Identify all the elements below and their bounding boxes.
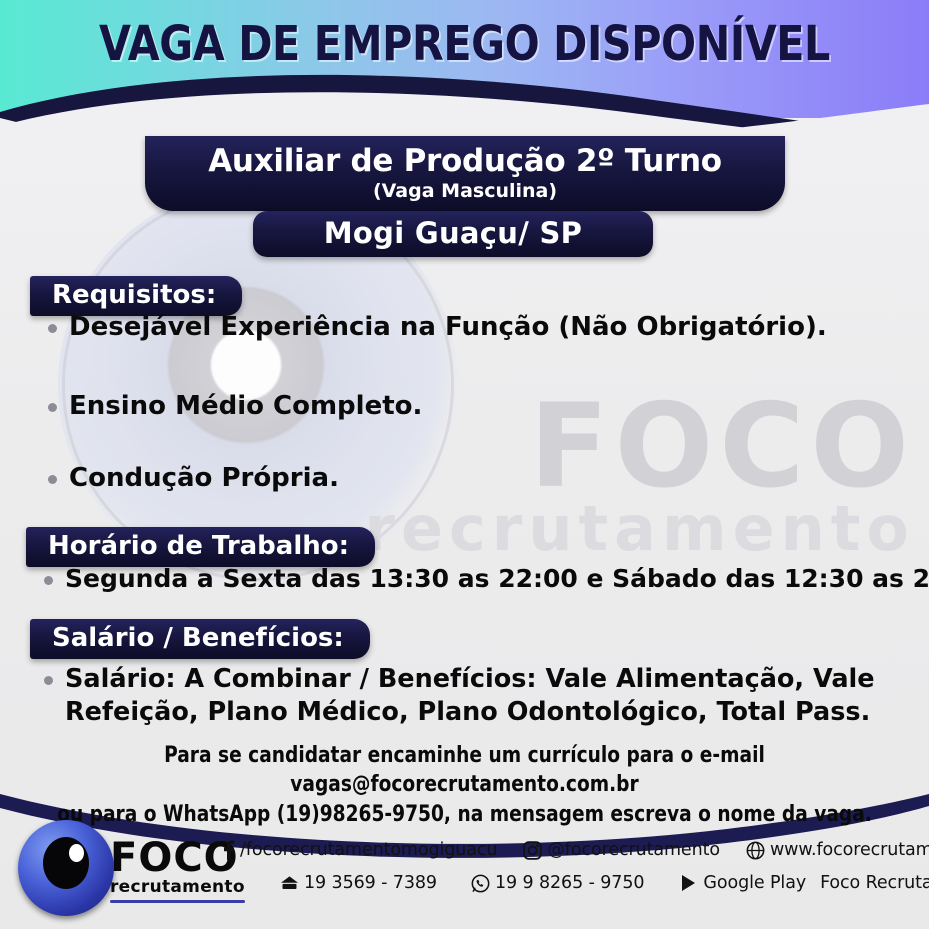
requisito-item: Condução Própria. (48, 462, 339, 495)
job-title-box: Auxiliar de Produção 2º Turno (Vaga Masc… (145, 136, 785, 211)
whatsapp-icon (471, 874, 490, 893)
company-logo: FOCO recrutamento (18, 820, 245, 916)
app-listing-name: Foco Recrutamento (820, 873, 929, 893)
requisitos-label: Requisitos: (30, 276, 242, 316)
contact-info: /focorecrutamentomogiguacu @focorecrutam… (218, 840, 924, 893)
play-triangle-icon (678, 873, 698, 893)
app-store-name: Google Play (703, 873, 806, 893)
bullet-dot-icon (44, 676, 53, 685)
website-url: www.focorecrutamento.com.br (770, 840, 929, 860)
website-contact[interactable]: www.focorecrutamento.com.br (746, 840, 929, 860)
apply-line-1: Para se candidatar encaminhe um currícul… (28, 741, 901, 800)
telephone-icon (280, 875, 299, 892)
bullet-dot-icon (44, 576, 53, 585)
facebook-handle: /focorecrutamentomogiguacu (240, 840, 497, 860)
horario-item: Segunda a Sexta das 13:30 as 22:00 e Sáb… (44, 563, 924, 595)
footer: FOCO recrutamento /focorecrutamentomogig… (0, 812, 929, 929)
requisito-text: Ensino Médio Completo. (69, 390, 422, 423)
job-location-box: Mogi Guaçu/ SP (253, 211, 653, 257)
whatsapp-number: 19 9 8265 - 9750 (495, 873, 644, 893)
bullet-dot-icon (48, 475, 57, 484)
facebook-contact[interactable]: /focorecrutamentomogiguacu (222, 840, 497, 860)
watermark-foco-text: FOCO (364, 392, 915, 502)
job-location: Mogi Guaçu/ SP (263, 216, 643, 250)
watermark-recrutamento-text: recrutamento (364, 498, 915, 560)
job-subtitle: (Vaga Masculina) (155, 180, 775, 202)
glint-shape (69, 844, 84, 862)
pupil-shape (43, 837, 89, 889)
eye-logo-icon (18, 820, 114, 916)
phone-number: 19 3569 - 7389 (304, 873, 437, 893)
job-posting-poster: VAGA DE EMPREGO DISPONÍVEL FOCO recrutam… (0, 0, 929, 929)
bullet-dot-icon (48, 324, 57, 333)
whatsapp-contact[interactable]: 19 9 8265 - 9750 (471, 873, 644, 893)
horario-text: Segunda a Sexta das 13:30 as 22:00 e Sáb… (65, 563, 929, 595)
salario-text: Salário: A Combinar / Benefícios: Vale A… (65, 663, 929, 728)
bullet-dot-icon (48, 403, 57, 412)
logo-underline (110, 900, 245, 903)
phone-contact[interactable]: 19 3569 - 7389 (280, 873, 437, 893)
requisito-item: Desejável Experiência na Função (Não Obr… (48, 311, 827, 344)
salario-label: Salário / Benefícios: (30, 619, 370, 659)
requisito-item: Ensino Médio Completo. (48, 390, 422, 423)
header-banner: VAGA DE EMPREGO DISPONÍVEL (0, 0, 929, 118)
contact-row-social: /focorecrutamentomogiguacu @focorecrutam… (218, 840, 924, 860)
requisito-text: Condução Própria. (69, 462, 339, 495)
instagram-contact[interactable]: @focorecrutamento (523, 840, 720, 860)
globe-icon (746, 841, 765, 860)
contact-row-phones: 19 3569 - 7389 19 9 8265 - 9750 (218, 873, 924, 893)
instagram-handle: @focorecrutamento (547, 840, 720, 860)
job-title: Auxiliar de Produção 2º Turno (155, 143, 775, 179)
instagram-icon (523, 841, 542, 860)
facebook-icon (222, 840, 235, 860)
foco-watermark: FOCO recrutamento (364, 392, 915, 560)
horario-label: Horário de Trabalho: (26, 527, 375, 567)
requisito-text: Desejável Experiência na Função (Não Obr… (69, 311, 827, 344)
app-store-contact[interactable]: Google Play Foco Recrutamento (678, 873, 929, 893)
banner-title: VAGA DE EMPREGO DISPONÍVEL (65, 16, 864, 72)
salario-item: Salário: A Combinar / Benefícios: Vale A… (44, 663, 929, 728)
